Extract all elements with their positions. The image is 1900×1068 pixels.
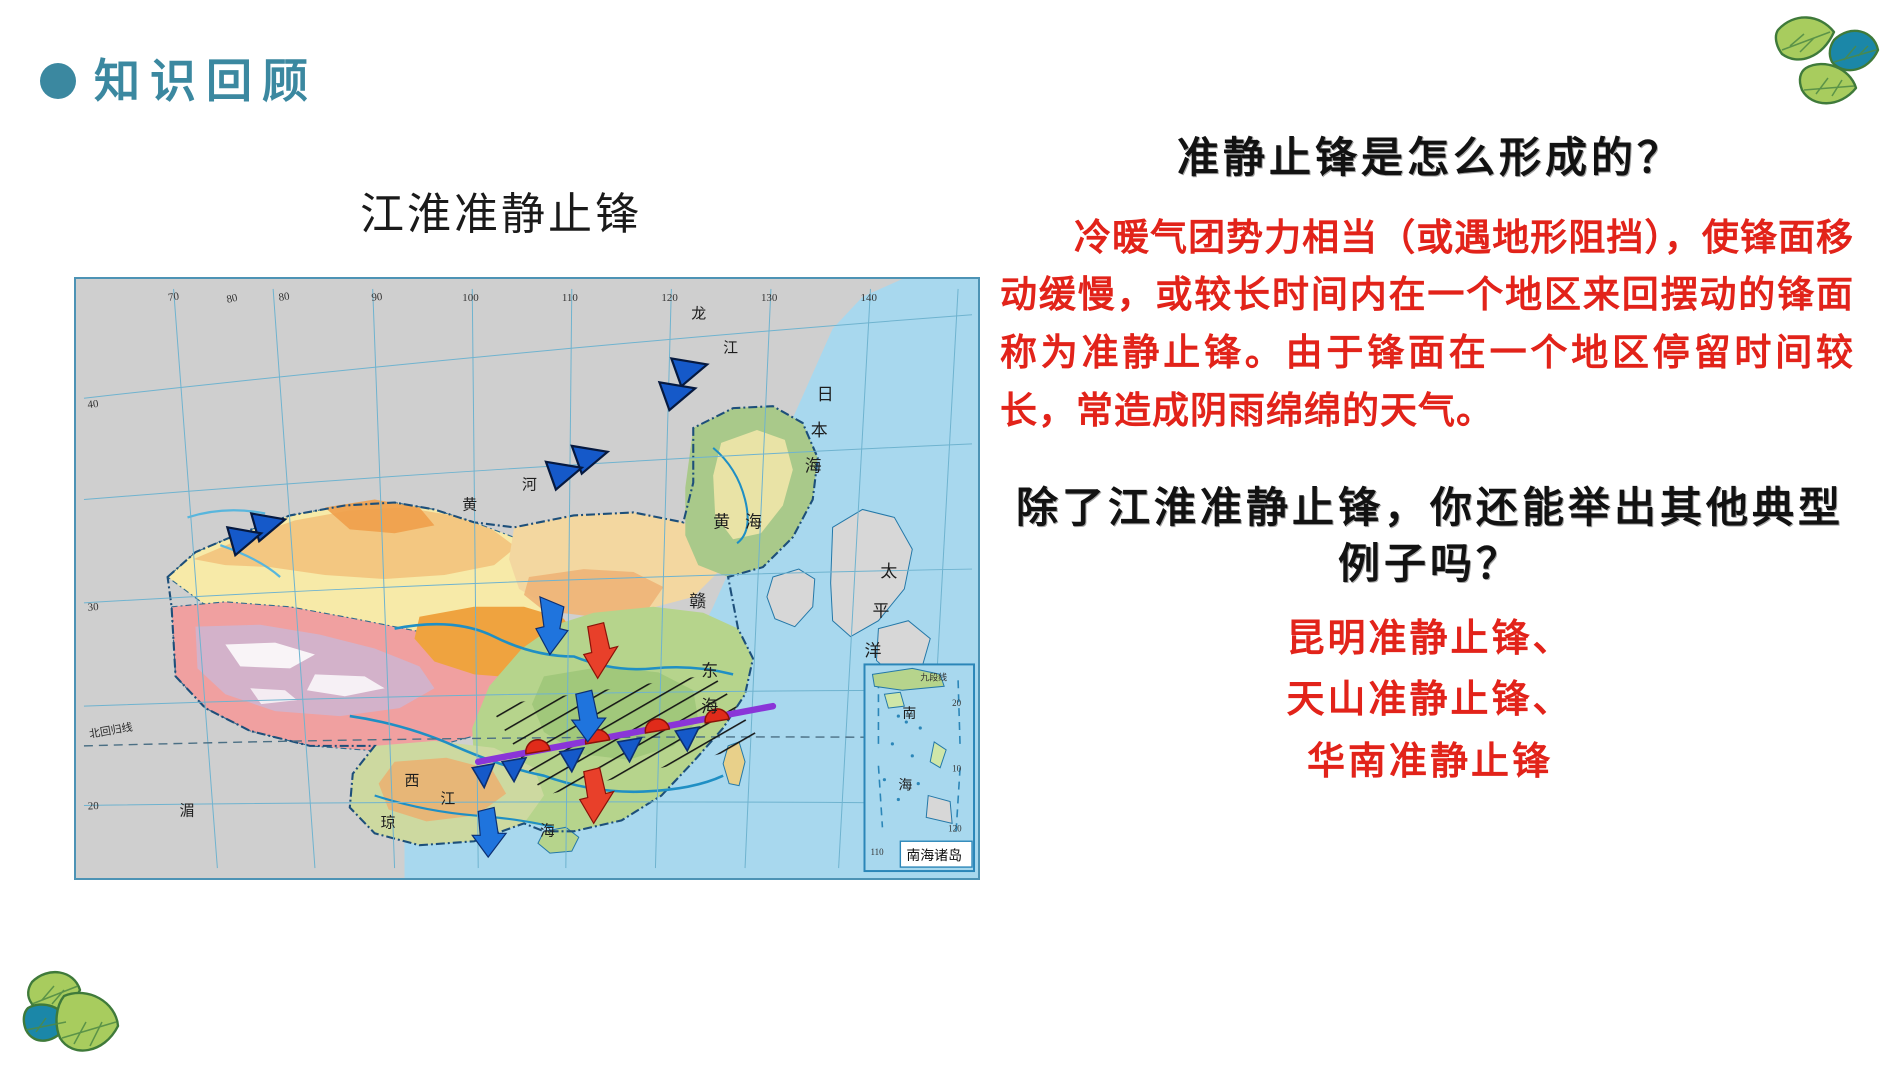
list-item: 天山准静止锋、 [1000, 670, 1860, 732]
slide-canvas: 知识回顾 江淮准静止锋 [0, 0, 1900, 1068]
leaf-cluster-icon [18, 960, 148, 1068]
svg-text:日: 日 [817, 385, 834, 404]
svg-text:太: 太 [880, 562, 897, 581]
svg-text:湄: 湄 [180, 802, 195, 819]
svg-text:40: 40 [87, 398, 100, 411]
svg-text:海: 海 [540, 822, 555, 839]
section-title: 知识回顾 [40, 58, 318, 104]
svg-text:南: 南 [902, 706, 916, 722]
leaf-cluster-graphic [18, 960, 148, 1068]
svg-text:20: 20 [88, 800, 100, 812]
svg-text:80: 80 [278, 290, 291, 303]
svg-text:130: 130 [761, 292, 778, 304]
svg-text:90: 90 [371, 291, 383, 304]
svg-text:平: 平 [872, 602, 889, 621]
section-title-label: 知识回顾 [94, 58, 318, 104]
svg-text:江: 江 [723, 340, 738, 357]
svg-text:南海诸岛: 南海诸岛 [906, 848, 962, 864]
question-heading-2: 除了江淮准静止锋，你还能举出其他典型例子吗？ [1000, 480, 1860, 593]
filled-circle-bullet-icon [40, 63, 76, 99]
svg-text:东: 东 [701, 661, 718, 680]
leaf-cluster-icon [1772, 6, 1892, 116]
svg-text:10: 10 [952, 764, 961, 774]
svg-text:琼: 琼 [381, 814, 396, 831]
svg-text:黄: 黄 [713, 512, 730, 531]
svg-text:30: 30 [87, 601, 99, 614]
question-heading-1: 准静止锋是怎么形成的？ [1000, 130, 1860, 187]
examples-list: 昆明准静止锋、 天山准静止锋、 华南准静止锋 [1000, 609, 1860, 794]
list-item: 昆明准静止锋、 [1000, 609, 1860, 671]
svg-text:海: 海 [701, 697, 718, 716]
svg-text:海: 海 [745, 512, 762, 531]
svg-text:河: 河 [522, 477, 537, 494]
china-physical-map: 70 80 80 90 100 110 120 130 140 40 30 [74, 277, 980, 880]
svg-text:黄: 黄 [462, 496, 477, 513]
svg-text:120: 120 [661, 292, 678, 304]
svg-text:海: 海 [898, 778, 912, 794]
content-column: 准静止锋是怎么形成的？ 冷暖气团势力相当（或遇地形阻挡），使锋面移动缓慢，或较长… [1000, 130, 1860, 794]
answer-paragraph: 冷暖气团势力相当（或遇地形阻挡），使锋面移动缓慢，或较长时间内在一个地区来回摆动… [1000, 209, 1860, 440]
map-title: 江淮准静止锋 [360, 178, 642, 242]
svg-text:本: 本 [811, 421, 828, 440]
svg-text:海: 海 [805, 457, 822, 476]
svg-text:110: 110 [870, 847, 884, 857]
leaf-cluster-graphic [1772, 6, 1892, 116]
svg-text:100: 100 [462, 292, 479, 304]
svg-text:西: 西 [405, 774, 420, 790]
svg-text:120: 120 [948, 823, 962, 833]
svg-text:140: 140 [861, 292, 878, 304]
svg-text:20: 20 [952, 698, 961, 708]
list-item: 华南准静止锋 [1000, 732, 1860, 794]
svg-text:110: 110 [562, 292, 579, 304]
svg-text:赣: 赣 [689, 592, 706, 611]
svg-text:江: 江 [440, 791, 455, 808]
svg-text:洋: 洋 [865, 641, 882, 660]
svg-text:龙: 龙 [691, 306, 706, 323]
south-china-sea-inset: 南 海 九段线 20 10 120 110 南海诸岛 [865, 664, 975, 871]
svg-text:九段线: 九段线 [920, 671, 947, 682]
map-graphic: 70 80 80 90 100 110 120 130 140 40 30 [76, 279, 978, 878]
svg-text:70: 70 [167, 290, 180, 303]
